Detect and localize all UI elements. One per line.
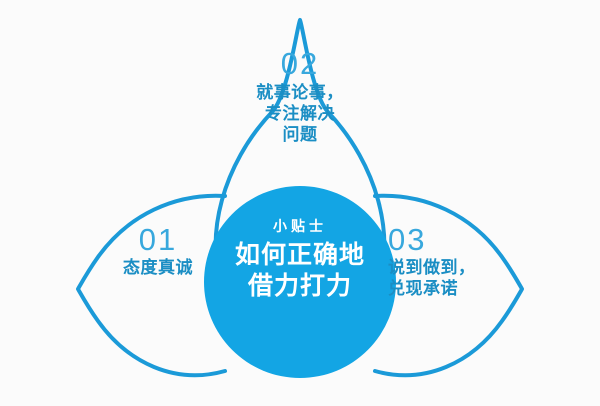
petal-number-02: 02: [222, 48, 378, 80]
hub-title: 如何正确地 借力打力: [204, 240, 396, 301]
petal-label-02[interactable]: 02 就事论事， 专注解决 问题: [222, 48, 378, 146]
petal-caption-02: 就事论事， 专注解决 问题: [222, 83, 378, 147]
hub-label[interactable]: 小贴士 如何正确地 借力打力: [204, 220, 396, 301]
hub-kicker: 小贴士: [204, 220, 396, 235]
infographic-canvas: 01 态度真诚 02 就事论事， 专注解决 问题 03 说到做到， 兑现承诺 小…: [0, 0, 600, 406]
